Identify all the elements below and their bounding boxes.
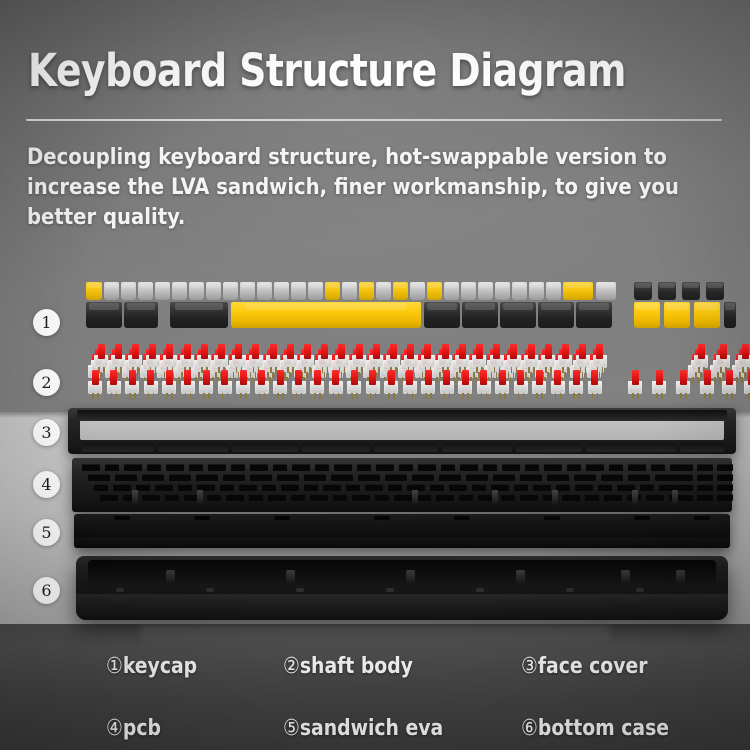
switch-pin	[493, 377, 495, 383]
pcb-switch-cutout	[147, 464, 161, 471]
pcb-switch-cutout	[717, 474, 733, 481]
switch	[366, 368, 380, 394]
face-cover-segment	[516, 443, 582, 452]
switch-stem	[442, 344, 449, 359]
pcb-switch-cutout	[281, 484, 299, 491]
switch-stem	[698, 344, 705, 359]
keycap	[529, 282, 544, 300]
switch-pin	[222, 393, 224, 399]
switch-pin	[726, 393, 728, 399]
switch-stem	[369, 370, 376, 385]
switch-pin	[714, 377, 716, 383]
pcb-switch-cutout	[677, 484, 693, 491]
switch-pin	[661, 393, 663, 399]
face-cover-body	[68, 408, 736, 454]
legend-label-6: bottom case	[538, 716, 669, 741]
switch-stem	[92, 370, 99, 385]
switch-stem	[240, 370, 247, 385]
switch	[111, 342, 125, 368]
legend-label-2: shaft body	[300, 654, 413, 679]
switch-pin	[504, 393, 506, 399]
keycap	[86, 302, 122, 328]
switch-stem	[726, 370, 733, 385]
keycap	[427, 282, 442, 300]
switch-pin	[227, 393, 229, 399]
switch-pin	[178, 377, 180, 383]
legend-item-shaft-body: ②shaft body	[283, 654, 413, 679]
switch-pin	[597, 393, 599, 399]
pcb-switch-cutout	[88, 474, 110, 481]
switch	[318, 342, 332, 368]
pcb-switch-cutout	[178, 484, 192, 491]
switch	[232, 342, 246, 368]
bottom-case-mount-nub	[621, 570, 630, 584]
switch	[273, 368, 287, 394]
pcb-switch-cutout	[697, 484, 713, 491]
switch-pin	[486, 393, 488, 399]
switch	[163, 342, 177, 368]
eva-notch	[544, 516, 560, 520]
legend-marker-1: ①	[106, 654, 123, 679]
switch	[455, 342, 469, 368]
keycap	[478, 282, 493, 300]
pcb-switch-cutout	[304, 484, 318, 491]
pcb-stabilizer-post	[632, 490, 638, 506]
switch	[88, 368, 102, 394]
keycap	[189, 282, 204, 300]
switch-stem	[218, 344, 225, 359]
switch-pin	[709, 393, 711, 399]
switch-stem	[314, 370, 321, 385]
switch	[107, 368, 121, 394]
face-cover-segment	[442, 443, 512, 452]
pcb-switch-cutout	[220, 484, 234, 491]
switch	[458, 368, 472, 394]
pcb-switch-cutout	[466, 474, 488, 481]
bottom-case-screw-boss	[116, 588, 124, 592]
keycap	[170, 302, 228, 328]
switch	[495, 368, 509, 394]
pcb-switch-cutout	[430, 484, 444, 491]
legend-label-3: face cover	[538, 654, 648, 679]
switch	[181, 368, 195, 394]
pcb-switch-cutout	[717, 464, 733, 471]
bottom-case-mount-nub	[406, 570, 415, 584]
legend-item-bottom-case: ⑥bottom case	[521, 716, 669, 741]
layer-bottom-case	[76, 556, 728, 620]
switch-pin	[270, 367, 272, 373]
switch	[199, 368, 213, 394]
switch-pin	[425, 393, 427, 399]
pcb-switch-cutout	[520, 494, 538, 501]
pcb-switch-cutout	[249, 494, 263, 501]
pcb-switch-cutout	[412, 474, 434, 481]
switch-pin	[344, 367, 346, 373]
pcb-switch-cutout	[136, 484, 150, 491]
pcb-switch-cutout	[155, 484, 173, 491]
switch-stem	[338, 344, 345, 359]
switch-stem	[510, 344, 517, 359]
switch	[249, 342, 263, 368]
bottom-case-screw-boss	[636, 588, 644, 592]
switch-pin	[351, 393, 353, 399]
switch-stem	[388, 370, 395, 385]
keycap	[359, 282, 374, 300]
switch	[384, 368, 398, 394]
switch	[335, 342, 349, 368]
switch-pin	[523, 393, 525, 399]
switch-pin	[356, 393, 358, 399]
pcb-switch-cutout	[82, 464, 100, 471]
switch-pin	[462, 393, 464, 399]
keycap	[172, 282, 187, 300]
switch-pin	[250, 372, 252, 378]
keycap	[424, 302, 460, 328]
keycap	[634, 302, 660, 328]
switch-pin	[680, 393, 682, 399]
switch-pin	[289, 372, 291, 378]
switch-pin	[731, 393, 733, 399]
switch	[403, 368, 417, 394]
pcb-switch-cutout	[697, 474, 713, 481]
pcb-body	[72, 458, 732, 512]
pcb-switch-cutout	[449, 484, 467, 491]
switch	[180, 342, 194, 368]
keycap	[462, 302, 498, 328]
pcb-switch-cutout	[520, 474, 542, 481]
face-cover-segment	[374, 443, 438, 452]
switch-stem	[166, 370, 173, 385]
switch-stem	[235, 344, 242, 359]
page-subtitle: Decoupling keyboard structure, hot-swapp…	[27, 142, 696, 232]
switch-pin	[632, 393, 634, 399]
pcb-switch-cutout	[124, 464, 142, 471]
switch-pin	[564, 372, 566, 378]
switch-pin	[499, 393, 501, 399]
switch-pin	[656, 393, 658, 399]
bottom-case-front-wall	[76, 594, 728, 620]
switch-stem	[562, 344, 569, 359]
pcb-switch-cutout	[323, 484, 341, 491]
switch	[593, 342, 607, 368]
keycap	[634, 282, 652, 300]
keycap	[376, 282, 391, 300]
keycap	[461, 282, 476, 300]
switch-stem	[287, 344, 294, 359]
switch	[532, 368, 546, 394]
switch-pin	[692, 377, 694, 383]
switch-pin	[190, 393, 192, 399]
keycap	[121, 282, 136, 300]
switch-pin	[717, 372, 719, 378]
switch-stem	[184, 344, 191, 359]
pcb-switch-cutout	[574, 474, 596, 481]
pcb-switch-cutout	[376, 464, 394, 471]
legend-label-1: keycap	[123, 654, 197, 679]
pcb-switch-cutout	[385, 474, 407, 481]
switch-stem	[462, 370, 469, 385]
switch-stem	[528, 344, 535, 359]
switch-stem	[270, 344, 277, 359]
bottom-case-mount-nub	[516, 570, 525, 584]
switch-pin	[412, 393, 414, 399]
eva-front-lip	[74, 538, 730, 548]
keycap	[546, 282, 561, 300]
keycap	[138, 282, 153, 300]
pcb-switch-cutout	[352, 494, 370, 501]
switch-stem	[459, 344, 466, 359]
pcb-switch-cutout	[483, 464, 497, 471]
switch-stem	[656, 370, 663, 385]
switch-stem	[680, 370, 687, 385]
switch-pin	[511, 367, 513, 373]
pcb-switch-cutout	[544, 464, 562, 471]
legend-item-pcb: ④pcb	[106, 716, 161, 741]
face-cover-window	[80, 420, 724, 440]
pcb-switch-cutout	[315, 464, 329, 471]
switch	[490, 342, 504, 368]
pcb-switch-cutout	[399, 464, 413, 471]
switch-pin	[430, 393, 432, 399]
legend: ①keycap ②shaft body ③face cover ④pcb ⑤sa…	[0, 636, 750, 750]
face-cover-segment	[586, 443, 676, 452]
switch-pin	[134, 393, 136, 399]
pcb-switch-cutout	[575, 484, 593, 491]
keycap	[538, 302, 574, 328]
bottom-case-screw-boss	[296, 588, 304, 592]
switch-stem	[596, 344, 603, 359]
keycap	[257, 282, 272, 300]
step-marker-1: 1	[33, 309, 60, 336]
switch	[266, 342, 280, 368]
switch-stem	[203, 370, 210, 385]
keycap	[393, 282, 408, 300]
switch-stem	[304, 344, 311, 359]
bottom-case-screw-boss	[206, 588, 214, 592]
switch	[472, 342, 486, 368]
pcb-switch-cutout	[226, 494, 244, 501]
switch-pin	[444, 393, 446, 399]
pcb-switch-cutout	[394, 494, 412, 501]
legend-marker-5: ⑤	[283, 716, 300, 741]
bottom-case-mount-nub	[166, 570, 175, 584]
eva-notch	[634, 516, 650, 520]
switch-pin	[314, 393, 316, 399]
switch	[722, 368, 736, 394]
pcb-switch-cutout	[586, 464, 604, 471]
pcb-switch-cutout	[502, 464, 520, 471]
switch-pin	[306, 372, 308, 378]
pcb-switch-cutout	[697, 494, 713, 501]
layer-sandwich-eva	[74, 514, 730, 548]
pcb-switch-cutout	[646, 494, 664, 501]
pcb-switch-cutout	[115, 474, 137, 481]
eva-notch	[694, 516, 710, 520]
pcb-switch-cutout	[651, 464, 665, 471]
legend-marker-2: ②	[283, 654, 300, 679]
switch-pin	[393, 393, 395, 399]
keycap	[576, 302, 612, 328]
switch	[218, 368, 232, 394]
switch-stem	[579, 344, 586, 359]
pcb-switch-cutout	[165, 494, 179, 501]
switch-stem	[351, 370, 358, 385]
pcb-switch-cutout	[268, 494, 286, 501]
eva-notch	[274, 516, 290, 520]
pcb-switch-cutout	[562, 494, 580, 501]
keycap	[563, 282, 593, 300]
switch-pin	[491, 372, 493, 378]
switch-stem	[554, 370, 561, 385]
switch-stem	[591, 370, 598, 385]
pcb-stabilizer-post	[412, 490, 418, 506]
pcb-switch-cutout	[677, 494, 693, 501]
pcb-switch-cutout	[169, 474, 191, 481]
switch	[477, 368, 491, 394]
switch-pin	[573, 393, 575, 399]
bottom-case-screw-boss	[566, 588, 574, 592]
pcb-switch-cutout	[250, 474, 272, 481]
pcb-switch-cutout	[142, 474, 164, 481]
pcb-switch-cutout	[655, 474, 677, 481]
switch-pin	[748, 393, 750, 399]
switch-pin	[103, 367, 105, 373]
switch-pin	[739, 372, 741, 378]
switch-stem	[129, 370, 136, 385]
switch-pin	[233, 372, 235, 378]
switch	[738, 342, 750, 368]
switch-pin	[528, 367, 530, 373]
switch	[144, 368, 158, 394]
switch	[369, 342, 383, 368]
keycap	[274, 282, 289, 300]
face-cover-segment	[232, 443, 298, 452]
switch-pin	[370, 393, 372, 399]
pcb-switch-cutout	[365, 484, 383, 491]
eva-notch	[194, 516, 210, 520]
switch	[255, 368, 269, 394]
switch-stem	[166, 344, 173, 359]
switch-pin	[449, 393, 451, 399]
keycap	[694, 302, 720, 328]
keycap	[155, 282, 170, 300]
switch-pin	[245, 393, 247, 399]
pcb-switch-cutout	[105, 464, 119, 471]
pcb-switch-cutout	[334, 464, 352, 471]
pcb-switch-cutout	[304, 474, 326, 481]
switch-pin	[388, 393, 390, 399]
switch-pin	[97, 393, 99, 399]
eva-notch	[114, 516, 130, 520]
pcb-switch-cutout	[556, 484, 570, 491]
switch	[440, 368, 454, 394]
switch-pin	[541, 393, 543, 399]
switch	[421, 368, 435, 394]
pcb-switch-cutout	[113, 484, 131, 491]
pcb-switch-cutout	[196, 474, 218, 481]
switch-stem	[499, 370, 506, 385]
switch-pin	[116, 393, 118, 399]
switch	[676, 368, 690, 394]
switch-stem	[493, 344, 500, 359]
switch-stem	[573, 370, 580, 385]
switch-stem	[480, 370, 487, 385]
switch-pin	[171, 393, 173, 399]
pcb-switch-cutout	[262, 484, 276, 491]
keyboard-structure-diagram: Keyboard Structure Diagram Decoupling ke…	[0, 0, 750, 750]
legend-marker-4: ④	[106, 716, 123, 741]
pcb-switch-cutout	[459, 494, 473, 501]
legend-marker-6: ⑥	[521, 716, 538, 741]
switch	[300, 342, 314, 368]
step-marker-5: 5	[33, 519, 60, 546]
switch-stem	[424, 344, 431, 359]
switch-pin	[481, 393, 483, 399]
pcb-switch-cutout	[472, 484, 486, 491]
switch-pin	[361, 367, 363, 373]
switch-stem	[476, 344, 483, 359]
legend-label-5: sandwich eva	[300, 716, 443, 741]
pcb-switch-cutout	[94, 484, 108, 491]
switch-pin	[585, 367, 587, 373]
switch-stem	[517, 370, 524, 385]
page-title: Keyboard Structure Diagram	[28, 44, 626, 97]
face-cover-segment	[82, 443, 154, 452]
switch-stem	[221, 370, 228, 385]
pcb-switch-cutout	[601, 474, 623, 481]
switch	[576, 342, 590, 368]
keycap	[104, 282, 119, 300]
keycap	[596, 282, 616, 300]
pcb-switch-cutout	[357, 464, 371, 471]
pcb-switch-cutout	[418, 464, 436, 471]
switch-pin	[166, 393, 168, 399]
switch-pin	[555, 393, 557, 399]
switch-pin	[259, 393, 261, 399]
switch	[162, 368, 176, 394]
face-cover-segment	[158, 443, 228, 452]
switch	[588, 368, 602, 394]
switch-pin	[208, 393, 210, 399]
keycap	[86, 282, 102, 300]
keycap	[325, 282, 340, 300]
keycap	[124, 302, 158, 328]
switch	[214, 342, 228, 368]
switch-stem	[406, 370, 413, 385]
pcb-switch-cutout	[189, 464, 203, 471]
switch-stem	[184, 370, 191, 385]
keycap	[410, 282, 425, 300]
pcb-switch-cutout	[525, 464, 539, 471]
face-cover-segment	[302, 443, 370, 452]
switch-pin	[301, 393, 303, 399]
switch	[514, 368, 528, 394]
switch	[716, 342, 730, 368]
switch-pin	[637, 393, 639, 399]
switch-pin	[719, 377, 721, 383]
switch-stem	[258, 370, 265, 385]
switch	[628, 368, 642, 394]
pcb-switch-cutout	[292, 464, 310, 471]
pcb-switch-cutout	[142, 494, 160, 501]
switch-pin	[741, 377, 743, 383]
keycap	[658, 282, 676, 300]
switch	[125, 368, 139, 394]
keycap	[500, 302, 536, 328]
pcb-stabilizer-post	[552, 490, 558, 506]
face-cover-top-rail	[77, 410, 727, 421]
keycap	[724, 302, 736, 328]
